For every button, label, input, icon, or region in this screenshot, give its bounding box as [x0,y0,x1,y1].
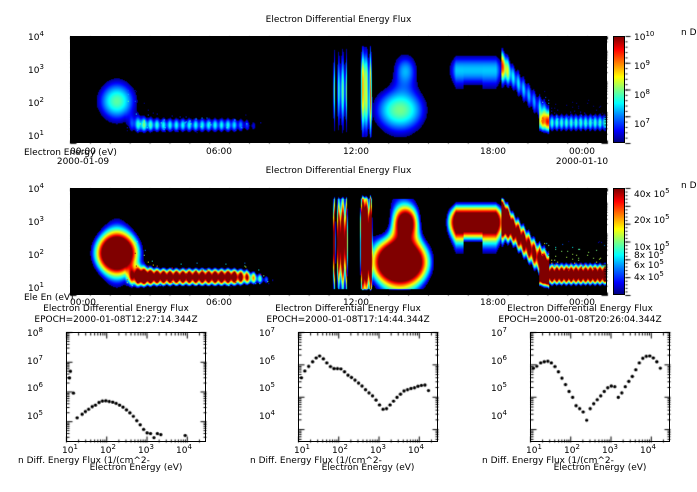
panel-middle-cbar-tick-40: 40x 105 [634,190,670,200]
panel-middle-plot-area[interactable] [70,188,607,295]
panel-spectrum-1-subtitle: EPOCH=2000-01-08T12:27:14.344Z [0,315,232,325]
panel-spectrum-1-ytick-5: 105 [27,412,43,422]
panel-spectrum-1-xtick-1: 101 [62,446,78,456]
panel-middle-ytick-4: 104 [28,185,44,195]
panel-top-cbar-tick-7: 107 [634,120,650,130]
panel-spectrum-2-points [299,333,437,441]
panel-spectrum-3-ytick-5: 105 [491,384,507,394]
panel-spectrum-1-title: Electron Differential Energy Flux [0,304,232,314]
panel-spectrum-2-ytick-5: 105 [259,384,275,394]
panel-top-ytick-2: 102 [28,99,44,109]
panel-middle-ytick-1: 101 [28,284,44,294]
panel-top-spectrogram [71,37,606,142]
panel-spectrum-1-xtick-2: 102 [100,446,116,456]
panel-spectrum-3-xtick-3: 103 [602,446,618,456]
panel-middle-cbar-tick-4: 4x 105 [634,273,664,283]
panel-middle-cbar-label: n Diff. Energy Flux (1/(cm^ [681,181,697,191]
panel-top-colorbar[interactable] [613,36,625,143]
panel-spectrum-3-plot-area[interactable] [530,332,670,442]
panel-spectrum-3-ytick-7: 107 [491,329,507,339]
panel-middle-title: Electron Differential Energy Flux [70,166,607,176]
panel-spectrum-1-xlabel: Electron Energy (eV) [46,463,226,473]
panel-spectrum-3-ytick-6: 106 [491,357,507,367]
panel-spectrum-1-ytick-8: 108 [27,329,43,339]
panel-spectrum-3: Electron Differential Energy Flux EPOCH=… [464,300,697,492]
panel-top-xtick-2: 12:00 [331,147,381,157]
panel-top-xtick-4: 00:00 [557,147,607,157]
panel-spectrum-2-xtick-4: 104 [408,446,424,456]
panel-spectrum-2-subtitle: EPOCH=2000-01-08T17:14:44.344Z [232,315,464,325]
panel-top-cbar-label: n Diff. Energy Flux (1/(cm^ [681,28,697,38]
panel-spectrum-2-title: Electron Differential Energy Flux [232,304,464,314]
panel-spectrum-3-points [531,333,669,441]
panel-middle-ytick-2: 102 [28,251,44,261]
panel-middle-colorbar[interactable] [613,188,625,295]
panel-top-cbar-tick-10: 1010 [634,33,654,43]
panel-spectrum-1: Electron Differential Energy Flux EPOCH=… [0,300,232,492]
panel-top: Electron Differential Energy Flux Electr… [0,0,697,170]
panel-top-xtick-1: 06:00 [194,147,244,157]
panel-middle: Electron Differential Energy Flux Ele En… [0,165,697,315]
panel-spectrum-1-xtick-4: 104 [176,446,192,456]
panel-spectrum-3-xlabel: Electron Energy (eV) [510,463,690,473]
panel-spectrum-1-points [67,333,205,441]
panel-top-cbar-tick-8: 108 [634,91,650,101]
panel-spectrum-3-ytick-4: 104 [491,412,507,422]
panel-spectrum-1-ytick-7: 107 [27,357,43,367]
panel-spectrum-3-title: Electron Differential Energy Flux [464,304,696,314]
panel-middle-ytick-3: 103 [28,218,44,228]
panel-spectrum-2-xtick-3: 103 [370,446,386,456]
panel-spectrum-2-xlabel: Electron Energy (eV) [278,463,458,473]
panel-spectrum-1-xtick-3: 103 [138,446,154,456]
panel-spectrum-2-ytick-7: 107 [259,329,275,339]
panel-spectrum-2-plot-area[interactable] [298,332,438,442]
panel-top-cbar-tick-9: 109 [634,62,650,72]
panel-spectrum-2-xtick-1: 101 [294,446,310,456]
panel-spectrum-1-plot-area[interactable] [66,332,206,442]
panel-top-ytick-4: 104 [28,33,44,43]
panel-spectrum-3-xtick-1: 101 [526,446,542,456]
panel-spectrum-3-xtick-2: 102 [564,446,580,456]
panel-spectrum-2-ytick-6: 106 [259,357,275,367]
panel-spectrum-2-ytick-4: 104 [259,412,275,422]
panel-top-plot-area[interactable] [70,36,607,143]
panel-spectrum-3-xtick-4: 104 [640,446,656,456]
panel-spectrum-2: Electron Differential Energy Flux EPOCH=… [232,300,464,492]
panel-spectrum-3-subtitle: EPOCH=2000-01-08T20:26:04.344Z [464,315,696,325]
panel-spectrum-1-ytick-6: 106 [27,384,43,394]
panel-top-xtick-3: 18:00 [468,147,518,157]
panel-top-ytick-3: 103 [28,66,44,76]
panel-middle-spectrogram [71,189,606,294]
panel-top-xtick-0: 00:00 [58,147,108,157]
panel-top-title: Electron Differential Energy Flux [70,15,607,25]
panel-top-ytick-1: 101 [28,132,44,142]
panel-spectrum-2-xtick-2: 102 [332,446,348,456]
panel-middle-cbar-tick-20: 20x 105 [634,216,670,226]
